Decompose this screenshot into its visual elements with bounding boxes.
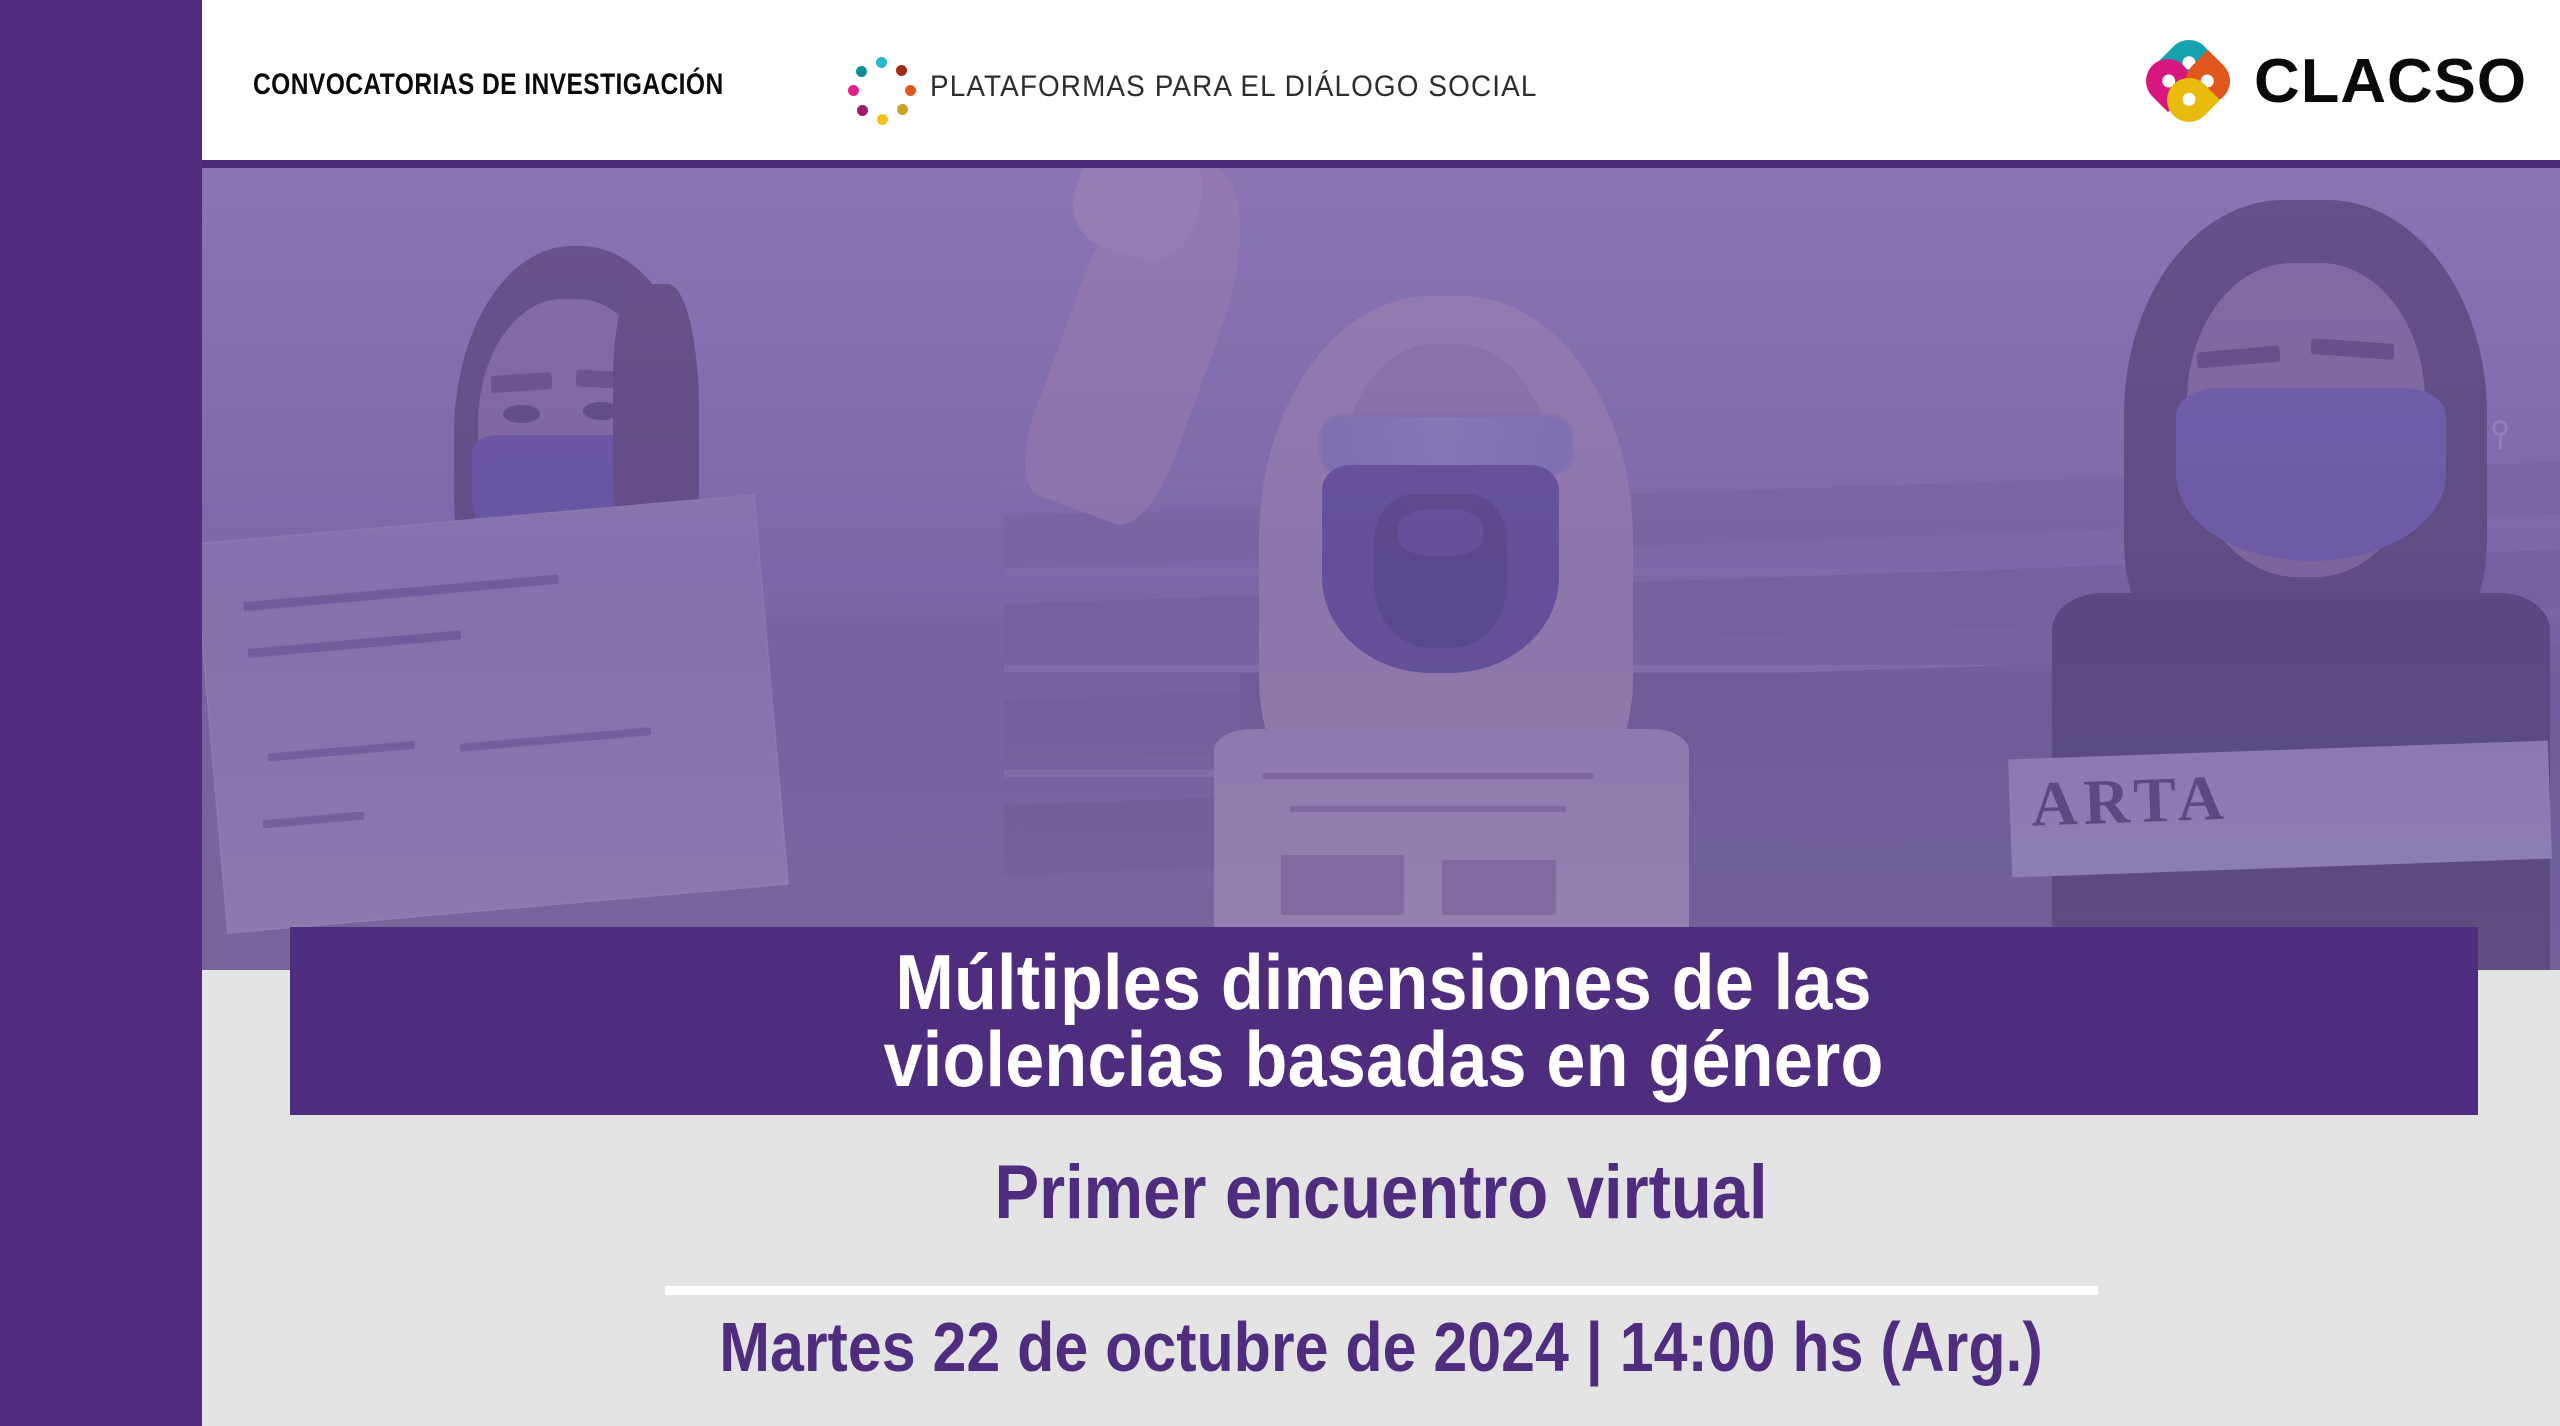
platform-label: PLATAFORMAS PARA EL DIÁLOGO SOCIAL xyxy=(930,70,1537,104)
left-purple-rail xyxy=(0,0,202,1426)
clacso-wordmark: CLACSO xyxy=(2254,46,2527,117)
clacso-clover-icon xyxy=(2146,40,2232,122)
title-line-1: Múltiples dimensiones de las xyxy=(896,938,1872,1026)
event-flyer: CONVOCATORIAS DE INVESTIGACIÓN PLATAFORM… xyxy=(0,0,2560,1426)
horizontal-divider xyxy=(665,1286,2098,1295)
kicker-label: CONVOCATORIAS DE INVESTIGACIÓN xyxy=(253,68,724,102)
event-datetime: Martes 22 de octubre de 2024 | 14:00 hs … xyxy=(355,1312,2406,1382)
photo-scene: ARTA xyxy=(202,168,2560,970)
page-title: Múltiples dimensiones de las violencias … xyxy=(884,944,1884,1098)
title-banner: Múltiples dimensiones de las violencias … xyxy=(290,927,2478,1115)
event-subtitle: Primer encuentro virtual xyxy=(343,1155,2418,1231)
dotted-circle-icon xyxy=(848,57,916,125)
title-line-2: violencias basadas en género xyxy=(884,1015,1884,1103)
protest-photo: ARTA xyxy=(202,168,2560,970)
purple-overlay-secondary xyxy=(202,168,2560,970)
header-bottom-rule xyxy=(202,160,2560,168)
clacso-logo: CLACSO xyxy=(2146,40,2522,122)
